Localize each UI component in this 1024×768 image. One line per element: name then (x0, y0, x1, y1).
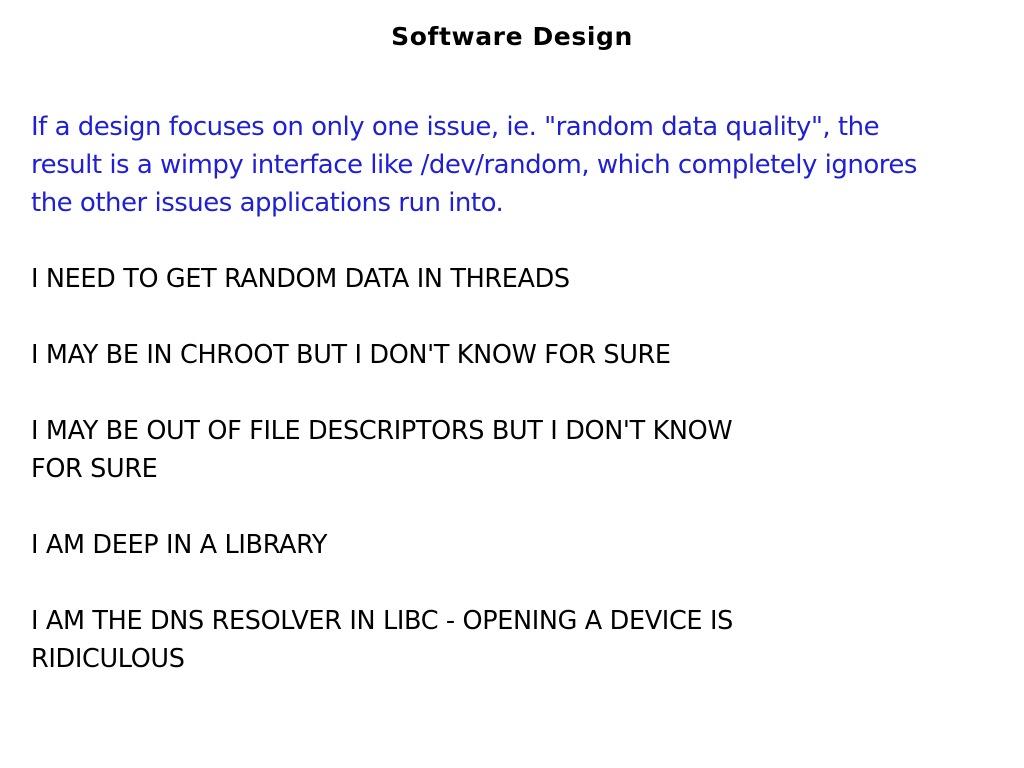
slide-body: If a design focuses on only one issue, i… (31, 108, 1011, 678)
paragraph-complaint-dns: I AM THE DNS RESOLVER IN LIBC - OPENING … (31, 602, 1011, 678)
text-line: RIDICULOUS (31, 640, 1011, 678)
text-line: I MAY BE OUT OF FILE DESCRIPTORS BUT I D… (31, 412, 1011, 450)
paragraph-complaint-fds: I MAY BE OUT OF FILE DESCRIPTORS BUT I D… (31, 412, 1011, 488)
paragraph-complaint-chroot: I MAY BE IN CHROOT BUT I DON'T KNOW FOR … (31, 336, 1011, 374)
text-line: I NEED TO GET RANDOM DATA IN THREADS (31, 260, 1011, 298)
paragraph-complaint-library: I AM DEEP IN A LIBRARY (31, 526, 1011, 564)
text-line: I AM THE DNS RESOLVER IN LIBC - OPENING … (31, 602, 1011, 640)
paragraph-intro: If a design focuses on only one issue, i… (31, 108, 1011, 222)
text-line: If a design focuses on only one issue, i… (31, 108, 1011, 146)
text-line: I MAY BE IN CHROOT BUT I DON'T KNOW FOR … (31, 336, 1011, 374)
text-line: the other issues applications run into. (31, 184, 1011, 222)
page-title: Software Design (0, 22, 1024, 51)
paragraph-complaint-threads: I NEED TO GET RANDOM DATA IN THREADS (31, 260, 1011, 298)
text-line: I AM DEEP IN A LIBRARY (31, 526, 1011, 564)
text-line: FOR SURE (31, 450, 1011, 488)
presentation-slide: Software Design If a design focuses on o… (0, 0, 1024, 768)
text-line: result is a wimpy interface like /dev/ra… (31, 146, 1011, 184)
